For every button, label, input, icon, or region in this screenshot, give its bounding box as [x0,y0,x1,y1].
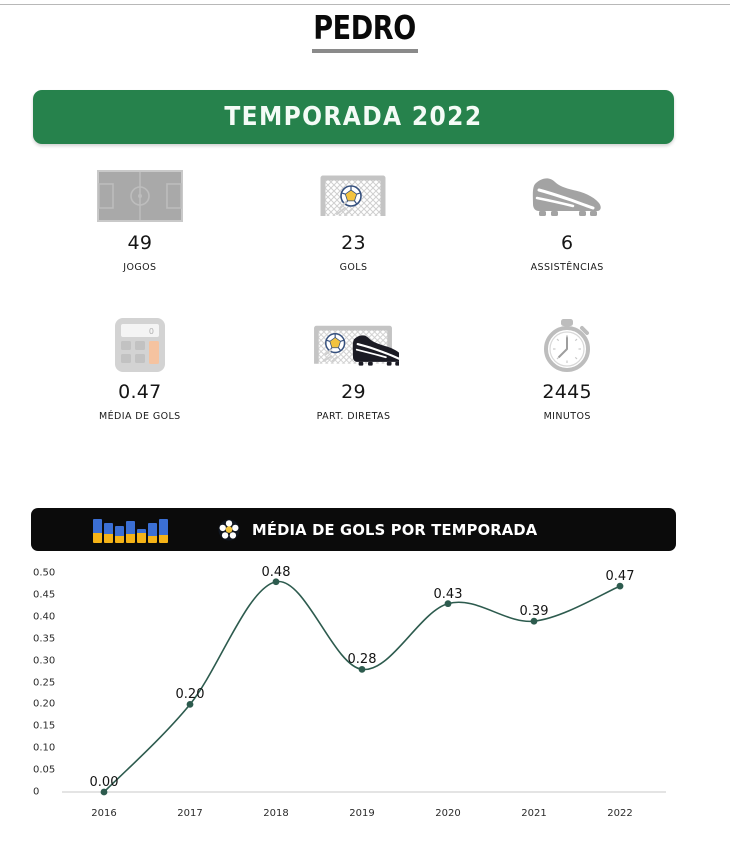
stat-value: 23 [341,234,366,253]
x-axis-tick: 2019 [349,808,374,819]
chart-title: MÉDIA DE GOLS POR TEMPORADA [252,521,537,539]
stats-grid: 49 JOGOS [33,168,674,422]
stopwatch-icon [521,317,613,373]
y-axis-tick: 0.45 [33,589,55,600]
page-title-wrap: PEDRO [0,11,730,46]
data-point-label: 0.00 [90,775,119,790]
stat-card-gols: 23 GOLS [247,168,461,273]
calculator-icon: 0 [94,317,186,373]
stat-card-jogos: 49 JOGOS [33,168,247,273]
data-point-label: 0.47 [606,569,635,584]
bar-chart-logo-icon [93,517,168,543]
y-axis-tick: 0.10 [33,743,55,754]
goal-net-ball-icon [307,168,399,224]
stat-card-media-de-gols: 0 0.47 MÉDIA DE GOLS [33,317,247,422]
x-axis-tick: 2020 [435,808,460,819]
y-axis-tick: 0 [33,787,39,798]
pitch-icon [94,168,186,224]
y-axis-tick: 0.50 [33,568,55,579]
x-axis-tick: 2022 [607,808,632,819]
x-axis-tick: 2017 [177,808,202,819]
goal-ball-boot-icon [307,317,399,373]
y-axis-tick: 0.30 [33,655,55,666]
stat-card-minutos: 2445 MINUTOS [460,317,674,422]
stat-value: 29 [341,383,366,402]
data-point-label: 0.48 [262,565,291,580]
stat-value: 2445 [542,383,592,402]
y-axis-tick: 0.40 [33,611,55,622]
x-axis-tick: 2021 [521,808,546,819]
data-point-label: 0.43 [434,587,463,602]
stat-card-part-diretas: 29 PART. DIRETAS [247,317,461,422]
page-title: PEDRO [314,11,417,46]
y-axis-tick: 0.20 [33,699,55,710]
stat-value: 0.47 [118,383,162,402]
y-axis-tick: 0.15 [33,721,55,732]
stat-label: PART. DIRETAS [317,411,391,422]
x-axis-tick: 2016 [91,808,116,819]
data-point-label: 0.39 [520,604,549,619]
y-axis-tick: 0.35 [33,633,55,644]
stat-value: 49 [127,234,152,253]
season-label: TEMPORADA 2022 [224,102,482,132]
y-axis-tick: 0.25 [33,677,55,688]
stat-label: GOLS [340,262,368,273]
infographic-page: PEDRO TEMPORADA 2022 49 JOGOS [0,0,730,847]
title-underline [312,49,418,53]
data-point-label: 0.28 [348,652,377,667]
top-divider [0,4,730,5]
goals-average-line-chart: 0.500.450.400.350.300.250.200.150.100.05… [0,560,730,820]
svg-text:0: 0 [149,327,154,336]
data-point-label: 0.20 [176,687,205,702]
soccer-ball-icon [218,519,240,541]
stat-value: 6 [561,234,573,253]
stat-card-assistencias: 6 ASSISTÊNCIAS [460,168,674,273]
stat-label: MINUTOS [544,411,591,422]
stat-label: JOGOS [123,262,156,273]
boot-icon [521,168,613,224]
season-banner: TEMPORADA 2022 [33,90,674,144]
stat-label: MÉDIA DE GOLS [99,411,181,422]
stat-label: ASSISTÊNCIAS [531,262,604,273]
x-axis-tick: 2018 [263,808,288,819]
y-axis-tick: 0.05 [33,765,55,776]
chart-header-bar: MÉDIA DE GOLS POR TEMPORADA [31,508,676,551]
